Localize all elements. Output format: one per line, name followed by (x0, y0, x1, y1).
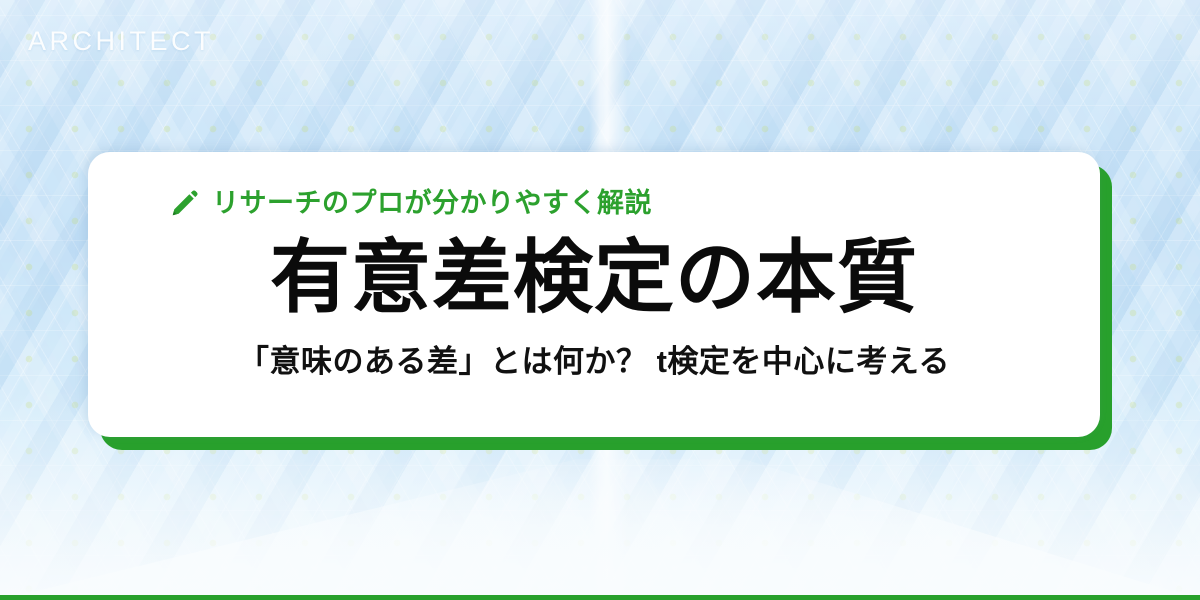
pencil-icon (170, 188, 200, 218)
slide-canvas: ARCHITECT リサーチのプロが分かりやすく解説 有意差検定の本質 「意味の… (0, 0, 1200, 600)
page-title: 有意差検定の本質 (270, 238, 918, 318)
brand-logo: ARCHITECT (28, 28, 214, 55)
eyebrow-label: リサーチのプロが分かりやすく解説 (212, 190, 652, 217)
title-card: リサーチのプロが分かりやすく解説 有意差検定の本質 「意味のある差」とは何か？ … (88, 152, 1112, 450)
page-subtitle: 「意味のある差」とは何か？ t検定を中心に考える (238, 346, 950, 377)
eyebrow: リサーチのプロが分かりやすく解説 (170, 188, 652, 218)
bottom-accent-rule (0, 595, 1200, 600)
card-surface: リサーチのプロが分かりやすく解説 有意差検定の本質 「意味のある差」とは何か？ … (88, 152, 1100, 437)
